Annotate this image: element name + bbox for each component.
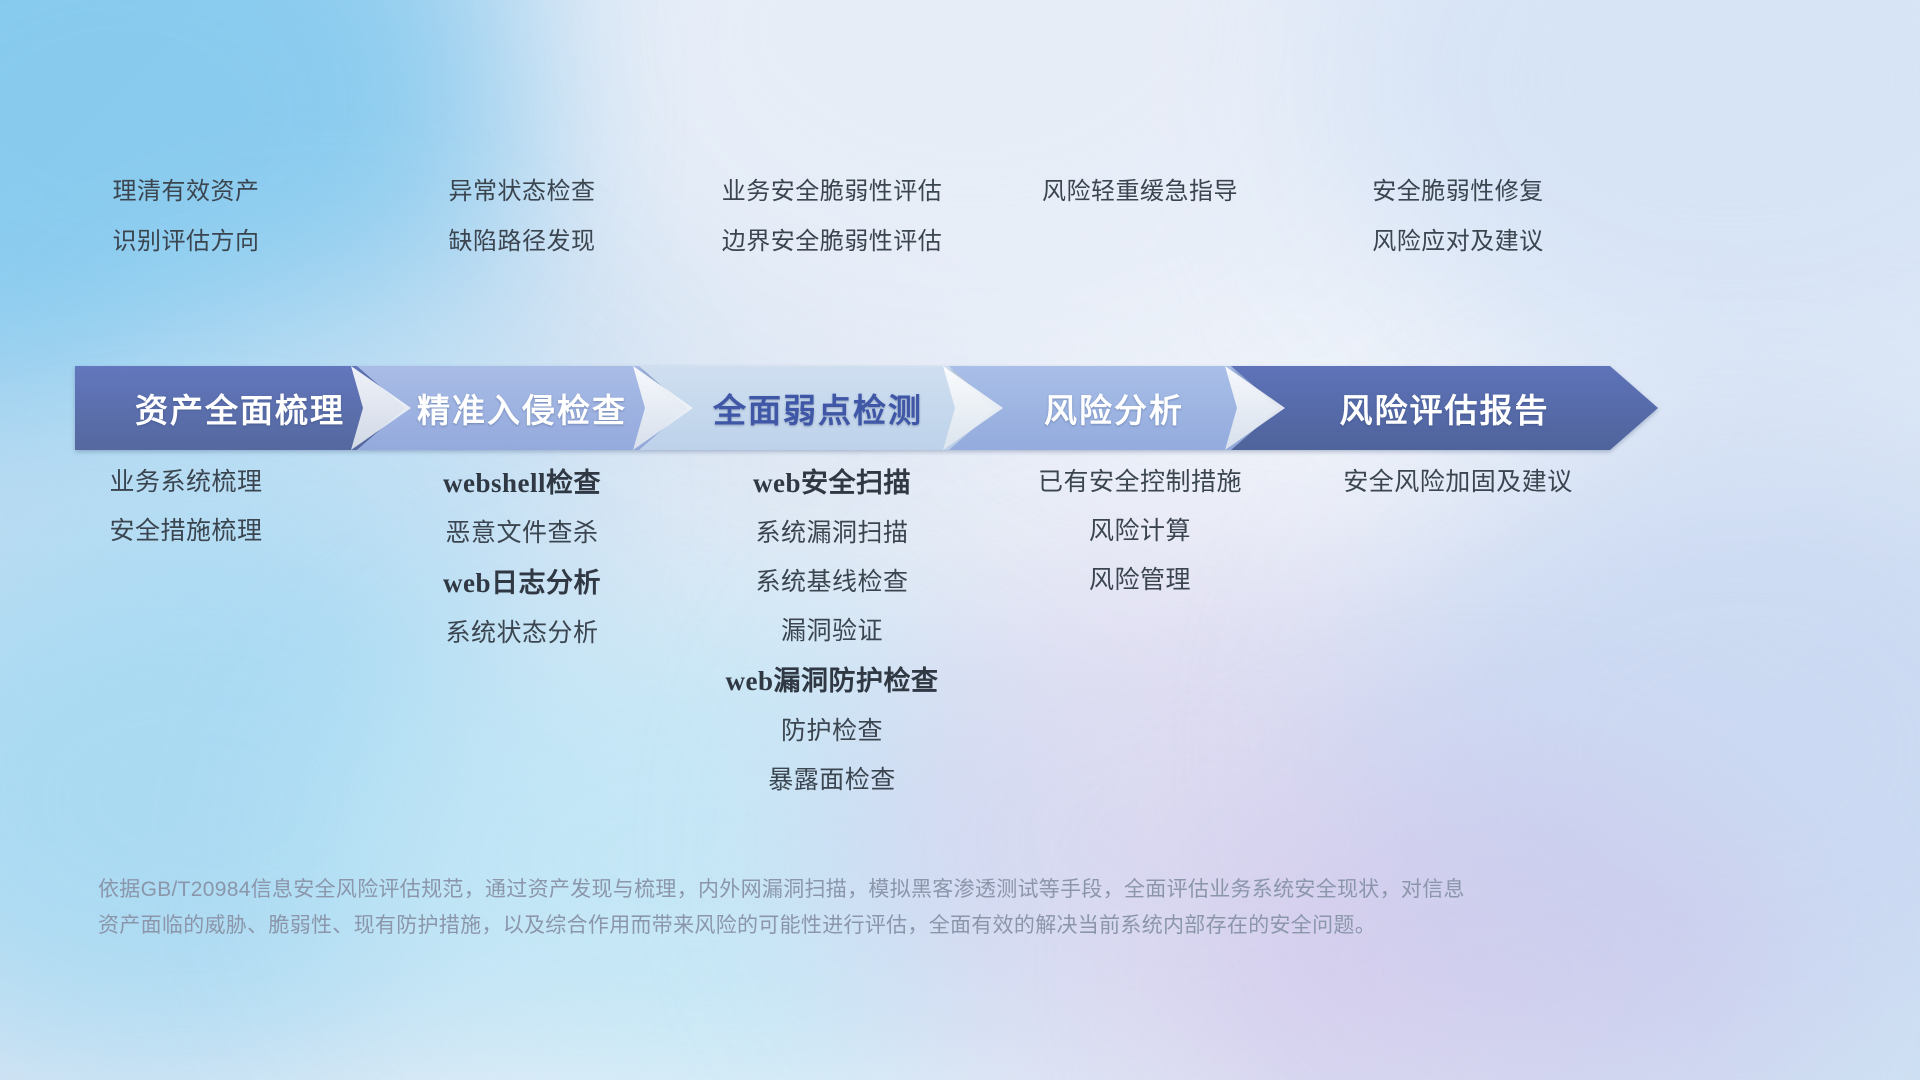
chevron-stage-label: 精准入侵检查 xyxy=(357,384,687,432)
list-item: 风险计算 xyxy=(1089,519,1191,544)
note-text: 理清有效资产 xyxy=(113,180,260,204)
top-notes-risk-analysis: 风险轻重缓急指导 xyxy=(992,180,1288,290)
chevron-stage-weakness-detection[interactable]: 全面弱点检测 xyxy=(639,366,997,450)
footer-line-1: 依据GB/T20984信息安全风险评估规范，通过资产发现与梳理，内外网漏洞扫描，… xyxy=(98,872,1618,908)
list-item: web日志分析 xyxy=(443,570,601,597)
list-item: 系统漏洞扫描 xyxy=(755,521,908,546)
list-item: 系统状态分析 xyxy=(445,621,598,646)
chevron-stage-label: 资产全面梳理 xyxy=(75,384,405,432)
top-notes-intrusion-check: 异常状态检查 缺陷路径发现 xyxy=(372,180,672,290)
chevron-stage-label: 风险分析 xyxy=(949,384,1279,432)
top-notes-risk-report: 安全脆弱性修复 风险应对及建议 xyxy=(1288,180,1628,290)
service-list-risk-report: 安全风险加固及建议 xyxy=(1288,470,1628,519)
note-text: 缺陷路径发现 xyxy=(449,230,596,254)
footer-line-2: 资产面临的威胁、脆弱性、现有防护措施，以及综合作用而带来风险的可能性进行评估，全… xyxy=(98,908,1618,944)
top-notes-row: 理清有效资产 识别评估方向 异常状态检查 缺陷路径发现 业务安全脆弱性评估 边界… xyxy=(0,180,1920,290)
chevron-stage-asset-inventory[interactable]: 资产全面梳理 xyxy=(75,366,405,450)
bottom-lists-row: 业务系统梳理 安全措施梳理 webshell检查 恶意文件查杀 web日志分析 … xyxy=(0,470,1920,817)
list-item: 安全风险加固及建议 xyxy=(1343,470,1573,495)
note-text: 安全脆弱性修复 xyxy=(1372,180,1544,204)
list-item: web安全扫描 xyxy=(753,470,911,497)
note-text: 边界安全脆弱性评估 xyxy=(722,230,943,254)
top-notes-asset-inventory: 理清有效资产 识别评估方向 xyxy=(0,180,372,290)
chevron-stage-label: 全面弱点检测 xyxy=(639,384,997,432)
note-text: 业务安全脆弱性评估 xyxy=(722,180,943,204)
footer-description: 依据GB/T20984信息安全风险评估规范，通过资产发现与梳理，内外网漏洞扫描，… xyxy=(98,872,1618,944)
note-text: 异常状态检查 xyxy=(449,180,596,204)
top-notes-weakness-detection: 业务安全脆弱性评估 边界安全脆弱性评估 xyxy=(672,180,992,290)
list-item: 安全措施梳理 xyxy=(109,519,262,544)
chevron-stage-risk-report[interactable]: 风险评估报告 xyxy=(1231,366,1658,450)
chevron-stage-risk-analysis[interactable]: 风险分析 xyxy=(949,366,1279,450)
service-list-risk-analysis: 已有安全控制措施 风险计算 风险管理 xyxy=(992,470,1288,617)
list-item: 漏洞验证 xyxy=(781,619,883,644)
service-list-intrusion-check: webshell检查 恶意文件查杀 web日志分析 系统状态分析 xyxy=(372,470,672,670)
note-text: 风险轻重缓急指导 xyxy=(1042,180,1238,204)
list-item: 防护检查 xyxy=(781,719,883,744)
chevron-stage-intrusion-check[interactable]: 精准入侵检查 xyxy=(357,366,687,450)
list-item: webshell检查 xyxy=(443,470,601,497)
list-item: 风险管理 xyxy=(1089,568,1191,593)
note-text: 风险应对及建议 xyxy=(1372,230,1544,254)
list-item: 业务系统梳理 xyxy=(109,470,262,495)
service-list-weakness-detection: web安全扫描 系统漏洞扫描 系统基线检查 漏洞验证 web漏洞防护检查 防护检… xyxy=(672,470,992,817)
list-item: 系统基线检查 xyxy=(755,570,908,595)
chevron-stage-label: 风险评估报告 xyxy=(1231,384,1658,432)
process-chevron-ribbon: 资产全面梳理 精准入侵检查 全面弱点检测 风险分析 风险评估报告 xyxy=(75,366,1850,450)
list-item: 暴露面检查 xyxy=(768,768,896,793)
note-text: 识别评估方向 xyxy=(113,230,260,254)
service-list-asset-inventory: 业务系统梳理 安全措施梳理 xyxy=(0,470,372,568)
list-item: 恶意文件查杀 xyxy=(445,521,598,546)
list-item: web漏洞防护检查 xyxy=(726,668,939,695)
list-item: 已有安全控制措施 xyxy=(1038,470,1242,495)
